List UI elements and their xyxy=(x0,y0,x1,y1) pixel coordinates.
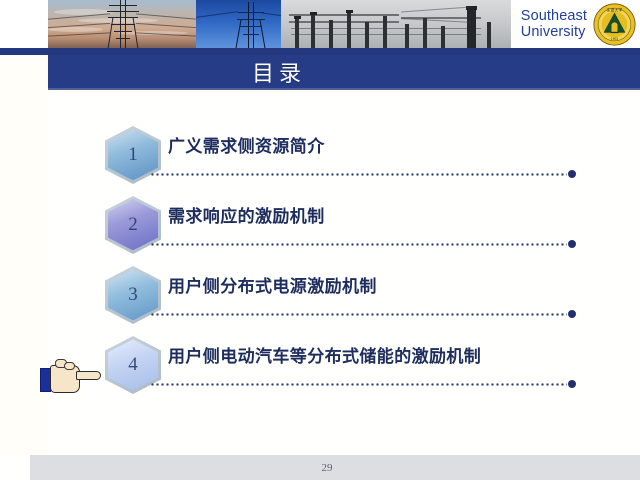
page-title: 目录 xyxy=(252,56,306,88)
pointing-hand-cursor-icon xyxy=(40,357,102,395)
toc-number-3: 3 xyxy=(128,284,138,306)
transmission-tower-blue-sky-photo xyxy=(196,0,281,48)
toc-number-4: 4 xyxy=(128,354,138,376)
cursor-knuckle-2 xyxy=(64,362,75,370)
leader-dots-2 xyxy=(150,243,567,246)
header-accent-strip xyxy=(0,48,640,55)
cursor-index-finger xyxy=(76,371,101,380)
brand-line-2: University xyxy=(521,24,587,40)
slide-title-bar: 目录 xyxy=(48,55,640,88)
toc-label-2: 需求响应的激励机制 xyxy=(168,202,325,227)
toc-item-2[interactable]: 2 需求响应的激励机制 xyxy=(0,190,640,260)
leader-dots-3 xyxy=(150,313,567,316)
university-brand: Southeast University 东南大学 1902 xyxy=(511,0,640,48)
transmission-tower-sunset-photo xyxy=(48,0,196,48)
toc-label-4: 用户侧电动汽车等分布式储能的激励机制 xyxy=(168,342,481,367)
svg-text:1902: 1902 xyxy=(611,36,619,40)
banner-left-margin xyxy=(0,0,48,48)
slide-footer: 29 xyxy=(30,455,640,480)
page-number: 29 xyxy=(322,462,333,474)
toc-label-1: 广义需求侧资源简介 xyxy=(168,132,325,157)
leader-end-dot-4 xyxy=(568,380,576,388)
svg-text:东南大学: 东南大学 xyxy=(607,7,623,12)
leader-end-dot-2 xyxy=(568,240,576,248)
southeast-university-seal-icon: 东南大学 1902 xyxy=(593,3,636,46)
brand-name: Southeast University xyxy=(521,8,587,40)
substation-switchyard-photo xyxy=(281,0,511,48)
title-underline xyxy=(48,88,640,90)
slide-canvas: Southeast University 东南大学 1902 xyxy=(0,0,640,480)
leader-end-dot-1 xyxy=(568,170,576,178)
leader-dots-4 xyxy=(150,383,567,386)
header-banner: Southeast University 东南大学 1902 xyxy=(0,0,640,48)
toc-number-1: 1 xyxy=(128,144,138,166)
toc-item-3[interactable]: 3 用户侧分布式电源激励机制 xyxy=(0,260,640,330)
leader-end-dot-3 xyxy=(568,310,576,318)
toc-item-1[interactable]: 1 广义需求侧资源简介 xyxy=(0,120,640,190)
toc-label-3: 用户侧分布式电源激励机制 xyxy=(168,272,377,297)
leader-dots-1 xyxy=(150,173,567,176)
toc-number-2: 2 xyxy=(128,214,138,236)
brand-line-1: Southeast xyxy=(521,8,587,24)
